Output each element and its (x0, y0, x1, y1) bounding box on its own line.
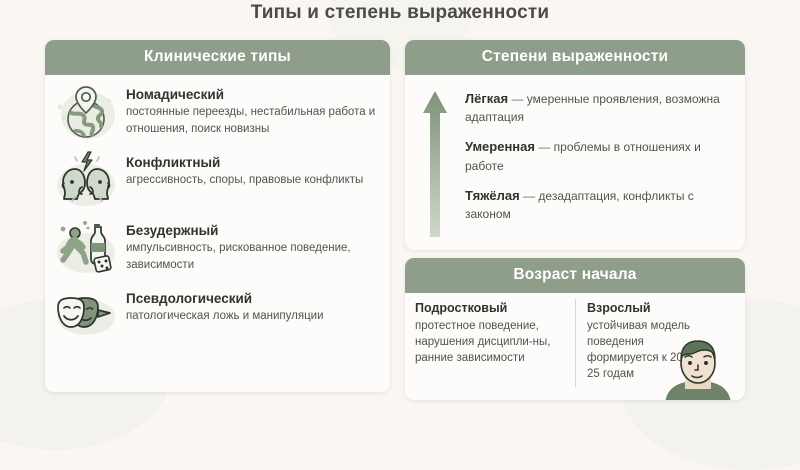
severity-name: Умеренная (465, 139, 535, 154)
severity-header: Степени выраженности (405, 40, 745, 75)
list-item-title: Конфликтный (126, 155, 363, 171)
severity-dash: — (538, 140, 550, 154)
severity-card: Степени выраженности Лёгкая — умеренные … (405, 40, 745, 250)
list-item-desc: постоянные переезды, нестабильная работа… (126, 104, 376, 137)
age-of-onset-card: Возраст начала Подростковый протестное п… (405, 258, 745, 400)
page-title: Типы и степень выраженности (0, 2, 800, 24)
list-item[interactable]: Конфликтный агрессивность, споры, правов… (45, 143, 390, 211)
list-item-title: Псевдологический (126, 291, 324, 307)
age-of-onset-body: Подростковый протестное поведение, наруш… (405, 293, 745, 397)
list-item-text: Номадический постоянные переезды, нестаб… (126, 81, 376, 138)
arguing-heads-lightning-icon (55, 149, 117, 211)
list-item[interactable]: Номадический постоянные переезды, нестаб… (45, 75, 390, 143)
list-item-desc: импульсивность, рискованное поведение, з… (126, 240, 376, 273)
list-item[interactable]: Умеренная — проблемы в отношениях и рабо… (465, 137, 733, 175)
up-arrow-icon (405, 85, 465, 235)
severity-name: Лёгкая (465, 91, 508, 106)
age-column-title: Подростковый (415, 301, 563, 315)
list-item-text: Безудержный импульсивность, рискованное … (126, 217, 376, 274)
running-man-bottle-dice-icon (55, 217, 117, 279)
list-item[interactable]: Тяжёлая — дезадаптация, конфликты с зако… (465, 186, 733, 224)
theater-masks-long-nose-icon (55, 285, 117, 347)
age-column-desc: протестное поведение, нарушения дисципли… (415, 318, 563, 367)
list-item[interactable]: Лёгкая — умеренные проявления, возможна … (465, 89, 733, 127)
age-of-onset-header: Возраст начала (405, 258, 745, 293)
list-item-title: Номадический (126, 87, 376, 103)
clinical-types-header: Клинические типы (45, 40, 390, 75)
severity-dash: — (511, 92, 523, 106)
list-item[interactable]: Псевдологический патологическая ложь и м… (45, 279, 390, 347)
severity-list: Лёгкая — умеренные проявления, возможна … (465, 85, 745, 235)
globe-pin-icon (55, 81, 117, 143)
age-column-title: Взрослый (587, 301, 735, 315)
adult-person-icon (655, 337, 741, 401)
age-column-adolescent[interactable]: Подростковый протестное поведение, наруш… (405, 301, 573, 397)
severity-dash: — (523, 189, 535, 203)
list-item-text: Конфликтный агрессивность, споры, правов… (126, 149, 363, 189)
severity-name: Тяжёлая (465, 188, 520, 203)
list-item-desc: патологическая ложь и манипуляции (126, 308, 324, 325)
age-column-adult[interactable]: Взрослый устойчивая модель поведения фор… (573, 301, 745, 397)
severity-body: Лёгкая — умеренные проявления, возможна … (405, 75, 745, 235)
list-item[interactable]: Безудержный импульсивность, рискованное … (45, 211, 390, 279)
list-item-desc: агрессивность, споры, правовые конфликты (126, 172, 363, 189)
list-item-text: Псевдологический патологическая ложь и м… (126, 285, 324, 325)
list-item-title: Безудержный (126, 223, 376, 239)
clinical-types-card: Клинические типы Номадический постоянные… (45, 40, 390, 392)
